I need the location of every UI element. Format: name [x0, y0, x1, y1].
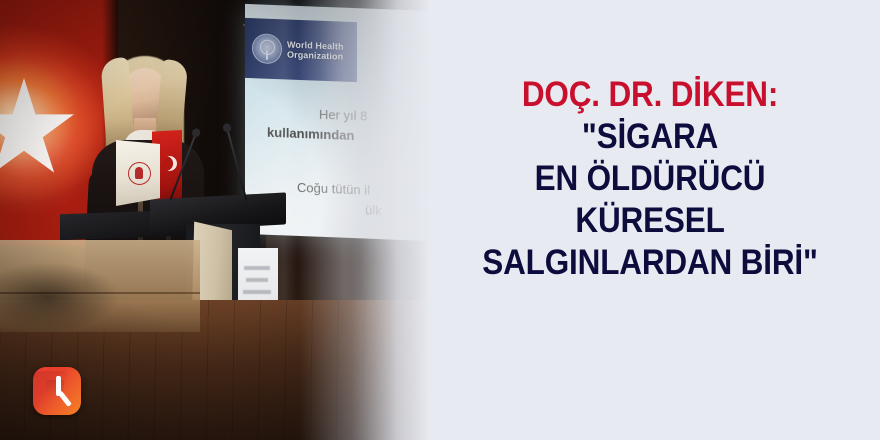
floor-shadow: [0, 262, 120, 332]
headline-panel: DOÇ. DR. DİKEN: "SİGARA EN ÖLDÜRÜCÜ KÜRE…: [420, 0, 880, 440]
crescent-icon: [158, 156, 173, 171]
headline-line-2: "SİGARA: [443, 116, 857, 158]
headline: DOÇ. DR. DİKEN: "SİGARA EN ÖLDÜRÜCÜ KÜRE…: [443, 74, 857, 284]
headline-line-1: DOÇ. DR. DİKEN:: [443, 74, 857, 116]
clock-logo[interactable]: [33, 367, 81, 415]
headline-line-3: EN ÖLDÜRÜCÜ: [443, 158, 857, 200]
podium-sign-line: [244, 266, 270, 270]
podium-sign-line: [246, 278, 268, 282]
ministry-of-health-flag: [116, 140, 160, 206]
headline-line-5: SALGINLARDAN BİRİ": [443, 242, 857, 284]
headline-line-4: KÜRESEL: [443, 200, 857, 242]
podium-sign-line: [243, 290, 271, 294]
news-thumbnail: World Health Organization Her yıl 8 kull…: [0, 0, 880, 440]
ministry-emblem-icon: [128, 162, 151, 185]
